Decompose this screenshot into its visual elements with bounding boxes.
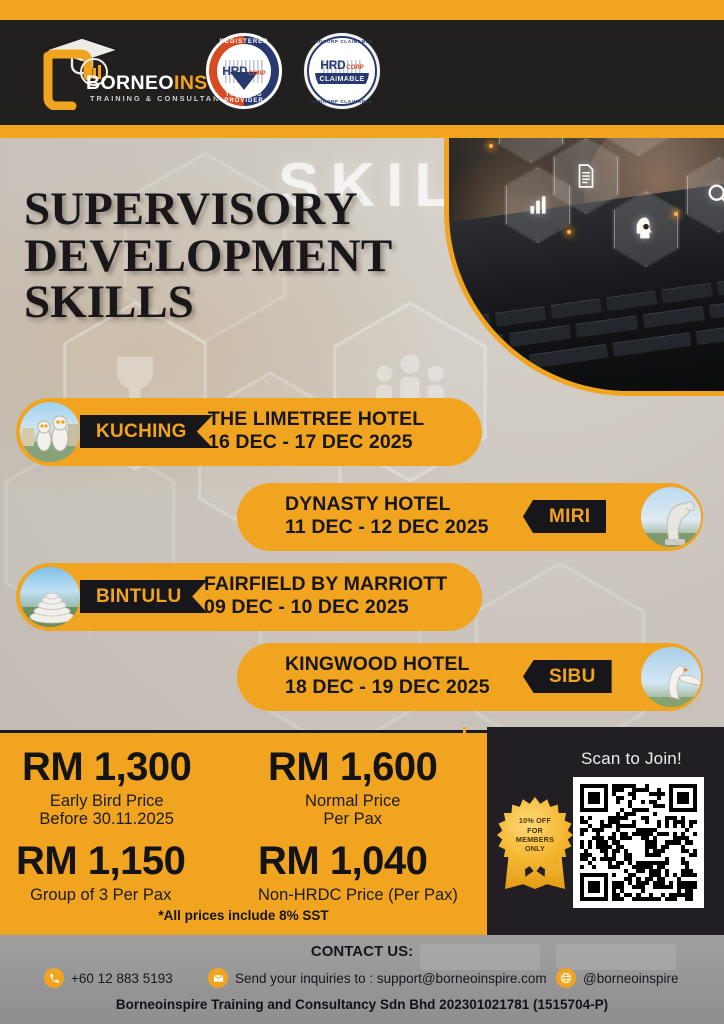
globe-icon [556, 968, 576, 988]
scan-to-join-label: Scan to Join! [581, 749, 682, 769]
sibu-dates: 18 DEC - 19 DEC 2025 [285, 676, 490, 699]
social-handle: @borneoinspire [583, 971, 679, 986]
sibu-thumbnail [639, 645, 703, 709]
members-discount-badge: 10% OFF FOR MEMBERS ONLY [497, 797, 573, 873]
bintulu-thumbnail [18, 565, 82, 629]
kuching-thumbnail [18, 400, 82, 464]
non-hrdc-amount: RM 1,040 [258, 841, 458, 881]
early-bird-label-line2: Before 30.11.2025 [22, 810, 191, 828]
normal-price-label-line2: Per Pax [268, 810, 437, 828]
normal-price-label: Normal Price Per Pax [268, 792, 437, 829]
contact-email[interactable]: Send your inquiries to : support@borneoi… [208, 968, 547, 988]
price-cell-group: RM 1,150 Group of 3 Per Pax [16, 841, 185, 904]
email-address: Send your inquiries to : support@borneoi… [235, 971, 547, 986]
non-hrdc-label: Non-HRDC Price (Per Pax) [258, 886, 458, 904]
miri-city-ribbon: MIRI [523, 500, 606, 533]
hrd-registered-brand: HRD [222, 65, 247, 77]
contact-us-title: CONTACT US: [0, 943, 724, 960]
hrd-claimable-arc-bottom: HRDCORP CLAIMABLE [304, 99, 380, 104]
location-row-miri[interactable]: MIRI DYNASTY HOTEL 11 DEC - 12 DEC 2025 [237, 483, 724, 551]
contact-row: +60 12 883 5193 Send your inquiries to :… [0, 968, 724, 994]
miri-details: DYNASTY HOTEL 11 DEC - 12 DEC 2025 [285, 493, 489, 539]
early-bird-label: Early Bird Price Before 30.11.2025 [22, 792, 191, 829]
sibu-details: KINGWOOD HOTEL 18 DEC - 19 DEC 2025 [285, 653, 490, 699]
contact-phone[interactable]: +60 12 883 5193 [44, 968, 173, 988]
phone-number: +60 12 883 5193 [71, 971, 173, 986]
badge-line-2: FOR [527, 826, 543, 835]
bintulu-city-label: BINTULU [96, 586, 181, 608]
miri-city-label: MIRI [549, 506, 590, 528]
location-row-kuching[interactable]: KUCHING THE LIMETREE HOTEL 16 DEC - 17 D… [0, 398, 487, 466]
normal-price-amount: RM 1,600 [268, 747, 437, 787]
group-price-amount: RM 1,150 [16, 841, 185, 881]
poster-root: SKILLS [0, 0, 724, 1024]
normal-price-label-line1: Normal Price [268, 792, 437, 810]
early-bird-amount: RM 1,300 [22, 747, 191, 787]
registration-qr-code[interactable] [573, 777, 704, 908]
phone-icon [44, 968, 64, 988]
header-underline-strip [0, 125, 724, 138]
pricing-panel: RM 1,300 Early Bird Price Before 30.11.2… [0, 730, 487, 935]
company-logo: BORNEOINSPIRE TRAINING & CONSULTANCY [28, 32, 208, 110]
kuching-hotel-name: THE LIMETREE HOTEL [208, 408, 424, 431]
hrd-claimable-corp: CORP [346, 65, 363, 71]
hrd-corp-registered-badge: REGISTERED TRAINING PROVIDER HRD CORP [205, 32, 283, 110]
badge-line-4: ONLY [525, 844, 545, 853]
kuching-city-ribbon: KUCHING [80, 415, 213, 448]
company-legal-name: Borneoinspire Training and Consultancy S… [0, 997, 724, 1012]
sst-note: *All prices include 8% SST [0, 908, 487, 923]
contact-social[interactable]: @borneoinspire [556, 968, 679, 988]
promo-panel: Scan to Join! 10% OFF FOR MEMBERS ONLY [487, 727, 724, 935]
sibu-city-ribbon: SIBU [523, 660, 612, 693]
bintulu-details: FAIRFIELD BY MARRIOTT 09 DEC - 10 DEC 20… [204, 573, 447, 619]
miri-dates: 11 DEC - 12 DEC 2025 [285, 516, 489, 539]
kuching-dates: 16 DEC - 17 DEC 2025 [208, 431, 424, 454]
sibu-city-label: SIBU [549, 666, 596, 688]
title-line-2: DEVELOPMENT [24, 233, 392, 280]
page-title: SUPERVISORY DEVELOPMENT SKILLS [24, 186, 392, 326]
early-bird-label-line1: Early Bird Price [22, 792, 191, 810]
sibu-hotel-name: KINGWOOD HOTEL [285, 653, 490, 676]
logo-word-borneo: BORNEO [86, 72, 174, 94]
kuching-city-label: KUCHING [96, 421, 187, 443]
location-row-sibu[interactable]: SIBU KINGWOOD HOTEL 18 DEC - 19 DEC 2025 [237, 643, 724, 711]
bintulu-dates: 09 DEC - 10 DEC 2025 [204, 596, 447, 619]
price-cell-normal: RM 1,600 Normal Price Per Pax [268, 747, 437, 829]
top-accent-strip [0, 0, 724, 20]
kuching-details: THE LIMETREE HOTEL 16 DEC - 17 DEC 2025 [208, 408, 424, 454]
hrd-corp-claimable-badge: HRDCORP CLAIMABLE HRDCORP CLAIMABLE HRD … [303, 32, 381, 110]
badge-text: 10% OFF FOR MEMBERS ONLY [511, 811, 559, 859]
price-cell-non-hrdc: RM 1,040 Non-HRDC Price (Per Pax) [258, 841, 458, 904]
title-line-1: SUPERVISORY [24, 186, 392, 233]
footer: CONTACT US: +60 12 883 5193 Send your in… [0, 935, 724, 1024]
badge-line-1: 10% OFF [519, 816, 551, 825]
bintulu-city-ribbon: BINTULU [80, 580, 207, 613]
hrd-claimable-brand: HRD [320, 59, 345, 71]
panel-divider-line [463, 727, 466, 935]
envelope-icon [208, 968, 228, 988]
miri-thumbnail [639, 485, 703, 549]
badge-line-3: MEMBERS [516, 835, 554, 844]
location-row-bintulu[interactable]: BINTULU FAIRFIELD BY MARRIOTT 09 DEC - 1… [0, 563, 487, 631]
title-line-3: SKILLS [24, 279, 392, 326]
miri-hotel-name: DYNASTY HOTEL [285, 493, 489, 516]
bintulu-hotel-name: FAIRFIELD BY MARRIOTT [204, 573, 447, 596]
price-cell-early-bird: RM 1,300 Early Bird Price Before 30.11.2… [22, 747, 191, 829]
hrd-registered-corp: CORP [248, 71, 265, 77]
group-price-label: Group of 3 Per Pax [16, 886, 185, 904]
